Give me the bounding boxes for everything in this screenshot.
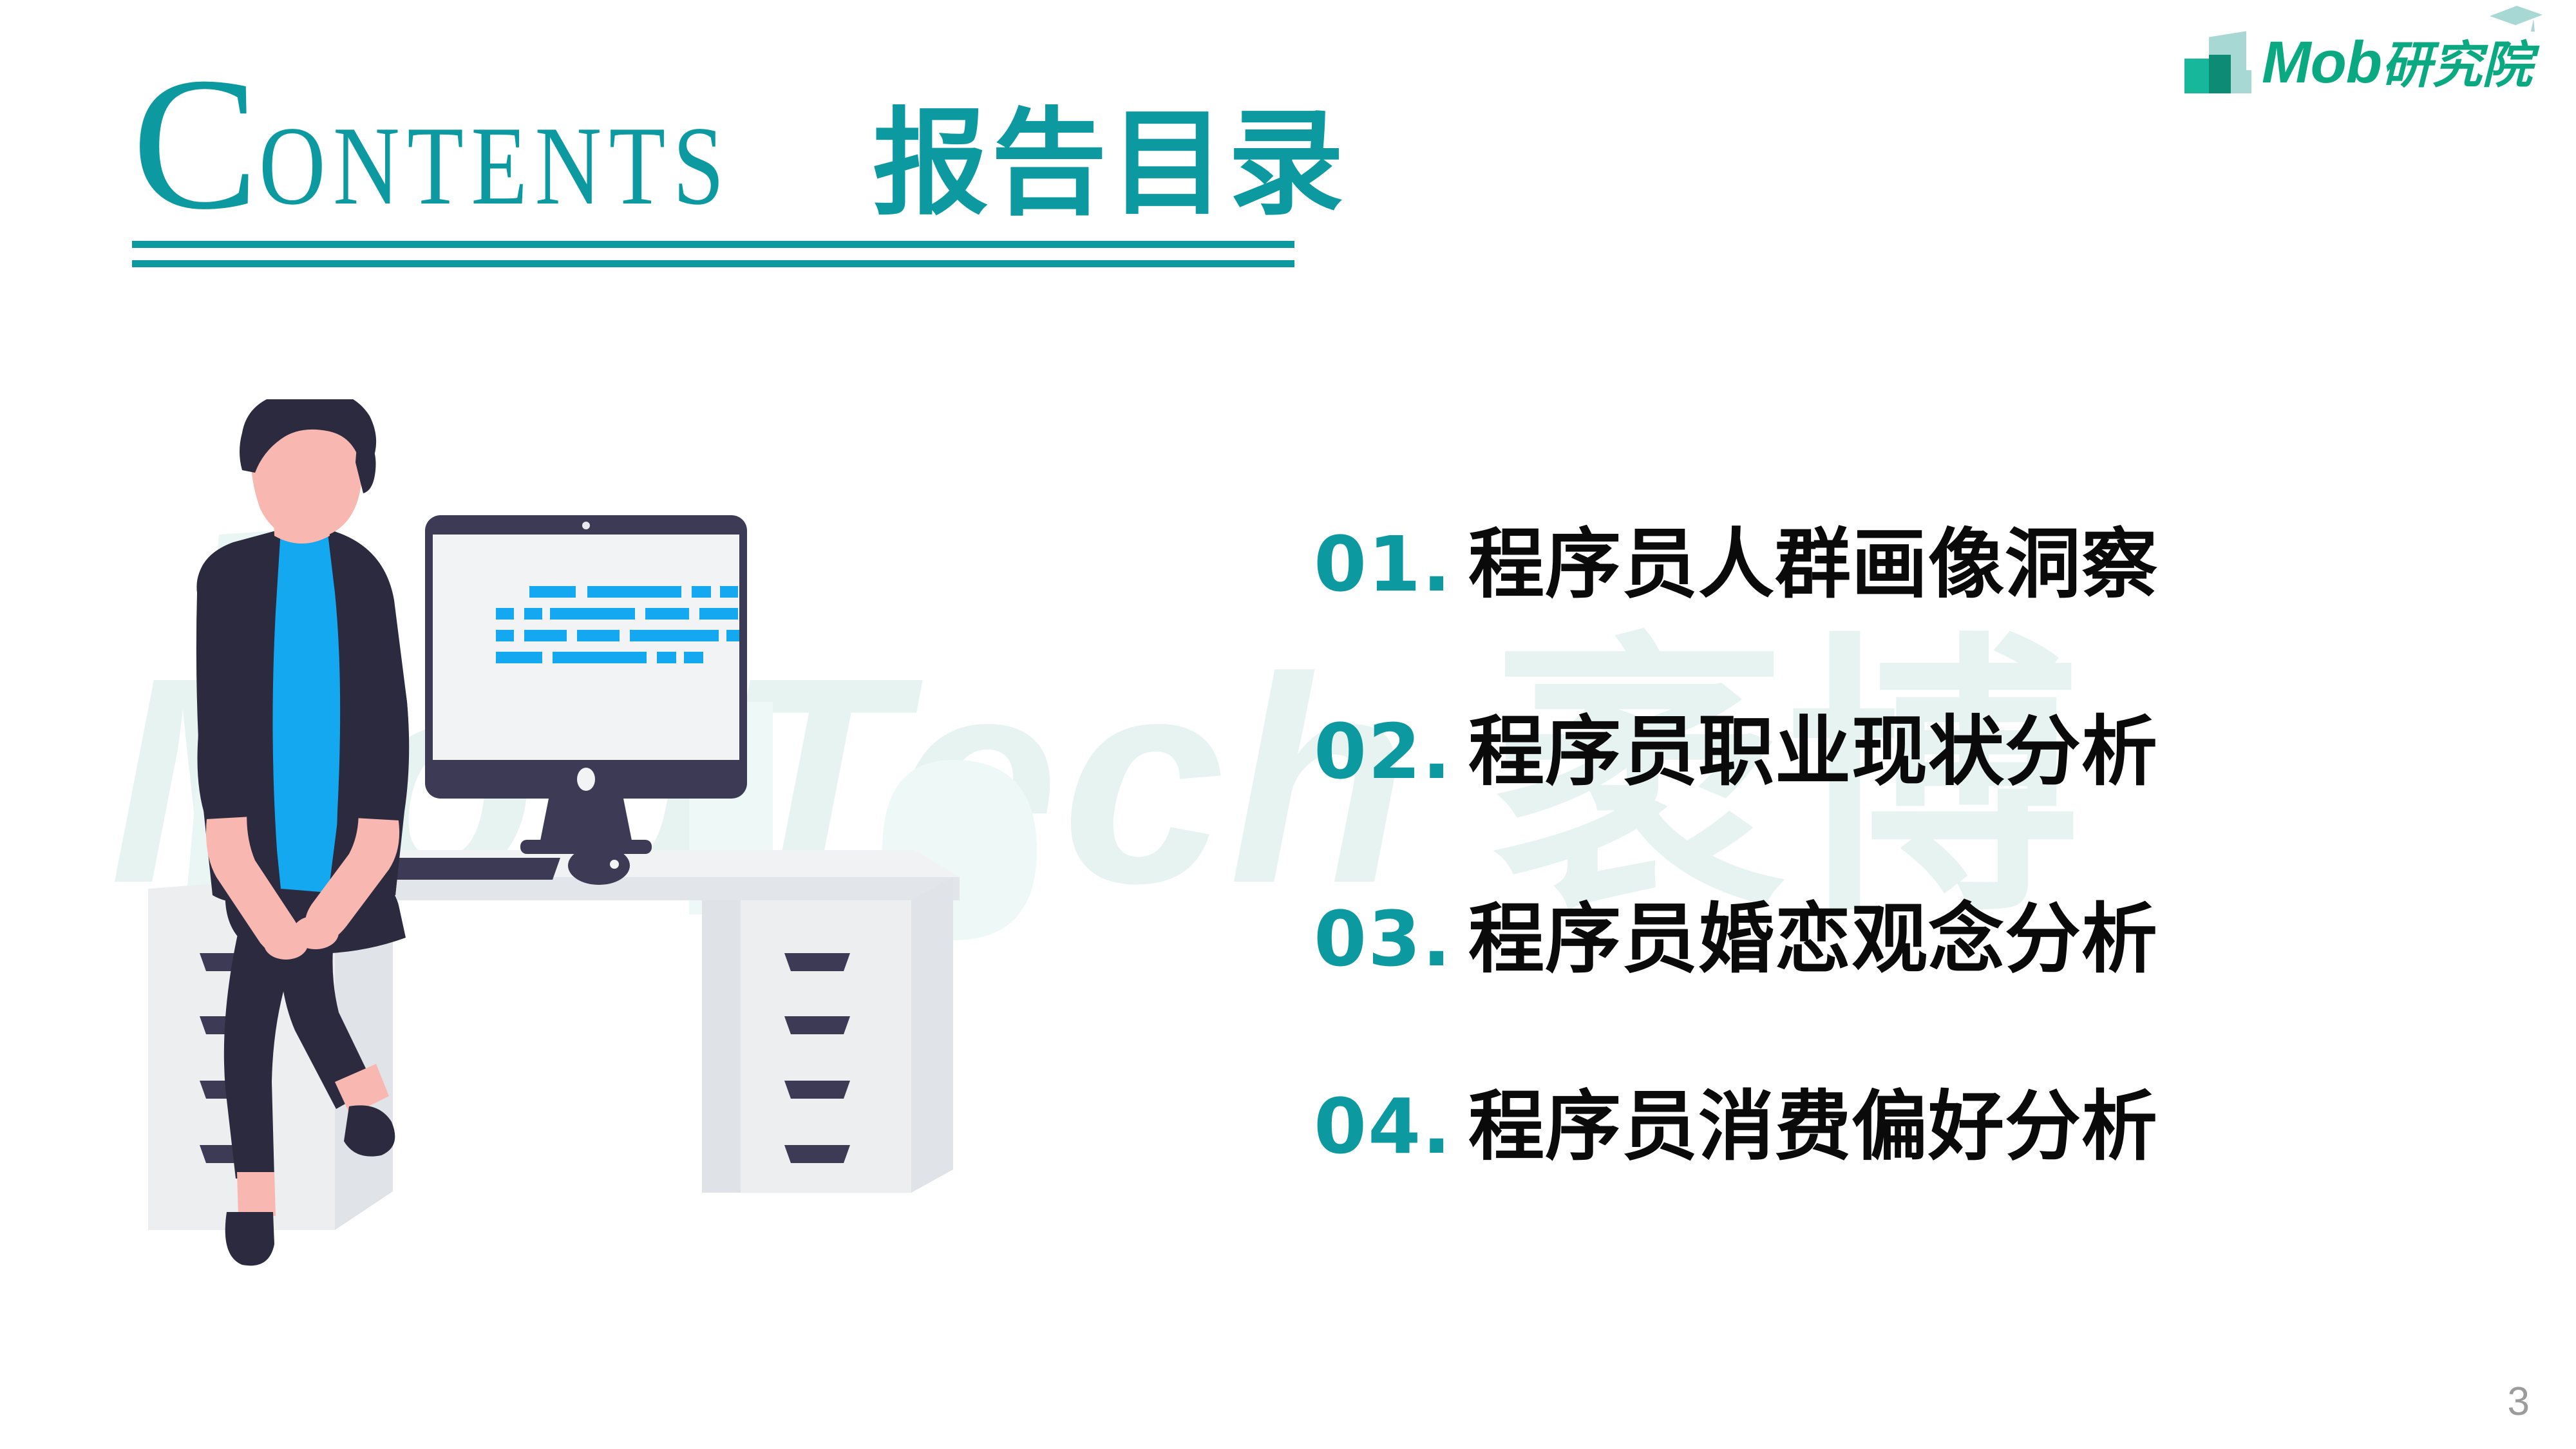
logo-brand-cn: 研究院 — [2382, 37, 2532, 93]
contents-item[interactable]: 04. 程序员消费偏好分析 — [1314, 1065, 2158, 1175]
contents-item-number: 04. — [1314, 1082, 1468, 1171]
contents-item-label: 程序员婚恋观念分析 — [1468, 877, 2158, 987]
title-divider-upper — [132, 241, 1294, 248]
contents-item[interactable]: 02. 程序员职业现状分析 — [1314, 690, 2158, 800]
title-chinese: 报告目录 — [873, 106, 1347, 222]
contents-list: 01. 程序员人群画像洞察 02. 程序员职业现状分析 03. 程序员婚恋观念分… — [1314, 502, 2158, 1175]
contents-item[interactable]: 01. 程序员人群画像洞察 — [1314, 502, 2158, 612]
contents-item-number: 01. — [1314, 520, 1468, 609]
title-rest: ONTENTS — [259, 109, 732, 222]
logo-wordmark: Mob研究院 — [2262, 33, 2532, 92]
developer-illustration — [122, 399, 1127, 1288]
page-title: CONTENTS报告目录 — [132, 48, 1347, 238]
brand-logo: Mob研究院 — [2183, 27, 2532, 98]
contents-item-number: 03. — [1314, 895, 1468, 983]
slide-root: MobTech 袤博 CONTENTS报告目录 Mob研究院 — [0, 0, 2576, 1449]
title-divider-lower — [132, 260, 1294, 267]
contents-item-label: 程序员消费偏好分析 — [1468, 1065, 2158, 1175]
contents-item-label: 程序员职业现状分析 — [1468, 690, 2158, 800]
title-initial-letter: C — [132, 38, 255, 249]
logo-brand: Mob — [2262, 30, 2382, 95]
contents-item-label: 程序员人群画像洞察 — [1468, 502, 2158, 612]
logo-bars-icon — [2183, 30, 2253, 95]
graduation-cap-icon — [2488, 6, 2544, 34]
page-number: 3 — [2508, 1379, 2530, 1425]
contents-item[interactable]: 03. 程序员婚恋观念分析 — [1314, 877, 2158, 987]
contents-item-number: 02. — [1314, 707, 1468, 796]
